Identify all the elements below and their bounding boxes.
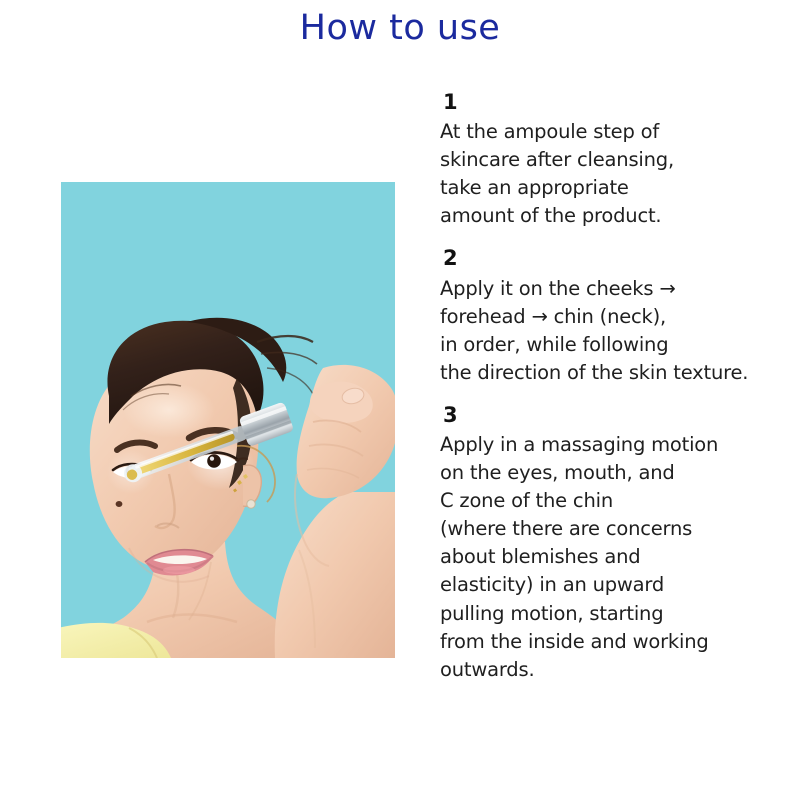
instruction-steps: 1 At the ampoule step of skincare after … [440, 90, 796, 690]
page-title: How to use [0, 8, 800, 48]
step-1: 1 At the ampoule step of skincare after … [440, 90, 796, 230]
step-3: 3 Apply in a massaging motion on the eye… [440, 403, 796, 684]
step-1-text: At the ampoule step of skincare after cl… [440, 118, 796, 230]
earring [247, 500, 255, 508]
product-usage-photo [61, 182, 395, 658]
step-1-number: 1 [443, 90, 796, 114]
step-2-number: 2 [443, 246, 796, 270]
photo-content [61, 182, 395, 658]
step-2: 2 Apply it on the cheeks → forehead → ch… [440, 246, 796, 386]
beauty-mark [116, 501, 123, 507]
step-3-number: 3 [443, 403, 796, 427]
step-3-text: Apply in a massaging motion on the eyes,… [440, 431, 796, 684]
model-photo-illustration [61, 182, 395, 658]
step-2-text: Apply it on the cheeks → forehead → chin… [440, 275, 796, 387]
